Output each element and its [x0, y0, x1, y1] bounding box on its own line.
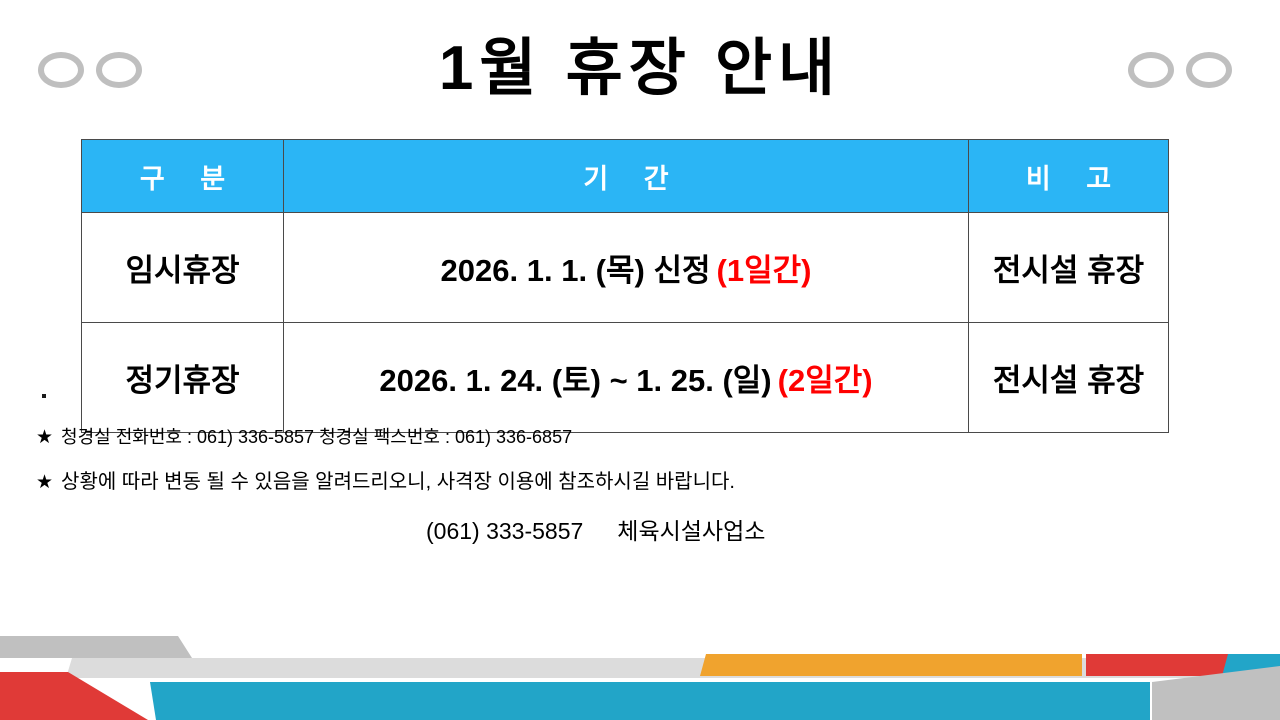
cell-division-1: 정기휴장	[82, 323, 284, 433]
page-title: 1월 휴장 안내	[0, 38, 1280, 100]
star-icon: ★	[36, 427, 53, 448]
ribbon-band-orange	[700, 654, 1082, 676]
header-note: 비 고	[969, 140, 1169, 213]
ribbon-band-teal	[150, 682, 1150, 720]
header-division: 구 분	[82, 140, 284, 213]
period-days-0: (1일간)	[717, 253, 812, 288]
contact-line: (061) 333-5857체육시설사업소	[426, 512, 1236, 546]
cell-note-0: 전시설 휴장	[969, 213, 1169, 323]
cell-period-1: 2026. 1. 24. (토) ~ 1. 25. (일)(2일간)	[284, 323, 969, 433]
ribbon-band-red-right	[1086, 654, 1280, 676]
period-text-1: 2026. 1. 24. (토) ~ 1. 25. (일)	[379, 363, 771, 398]
period-days-1: (2일간)	[778, 363, 873, 398]
table-row: 임시휴장 2026. 1. 1. (목) 신정(1일간) 전시설 휴장	[82, 213, 1169, 323]
footnote-contact-numbers: ★청경실 전화번호 : 061) 336-5857 청경실 팩스번호 : 061…	[36, 425, 1236, 452]
ribbon-band-lightgray	[66, 658, 1280, 678]
stray-dot-artifact	[42, 394, 46, 398]
notice-slide: 1월 휴장 안내 구 분 기 간 비 고 임시휴장 2026. 1. 1. (목…	[0, 0, 1280, 720]
bottom-decorative-ribbon	[0, 610, 1280, 720]
cell-note-1: 전시설 휴장	[969, 323, 1169, 433]
table-header-row: 구 분 기 간 비 고	[82, 140, 1169, 213]
table-row: 정기휴장 2026. 1. 24. (토) ~ 1. 25. (일)(2일간) …	[82, 323, 1169, 433]
period-text-0: 2026. 1. 1. (목) 신정	[441, 253, 711, 288]
ribbon-band-gray-left	[0, 636, 192, 658]
ribbon-band-gray-right	[1152, 666, 1280, 720]
closure-schedule-table: 구 분 기 간 비 고 임시휴장 2026. 1. 1. (목) 신정(1일간)…	[81, 139, 1169, 433]
cell-division-0: 임시휴장	[82, 213, 284, 323]
ribbon-band-teal-accent	[1222, 654, 1280, 676]
footnote-line2-text: 상황에 따라 변동 될 수 있음을 알려드리오니, 사격장 이용에 참조하시길 …	[61, 471, 735, 493]
footnote-line1-text: 청경실 전화번호 : 061) 336-5857 청경실 팩스번호 : 061)…	[61, 427, 572, 447]
ribbon-band-red-left	[0, 672, 148, 720]
cell-period-0: 2026. 1. 1. (목) 신정(1일간)	[284, 213, 969, 323]
contact-phone: (061) 333-5857	[426, 518, 583, 544]
footnote-disclaimer: ★상황에 따라 변동 될 수 있음을 알려드리오니, 사격장 이용에 참조하시길…	[36, 468, 1236, 497]
star-icon: ★	[36, 472, 53, 493]
contact-office: 체육시설사업소	[617, 518, 765, 544]
header-period: 기 간	[284, 140, 969, 213]
footnotes-block: ★청경실 전화번호 : 061) 336-5857 청경실 팩스번호 : 061…	[36, 425, 1236, 546]
